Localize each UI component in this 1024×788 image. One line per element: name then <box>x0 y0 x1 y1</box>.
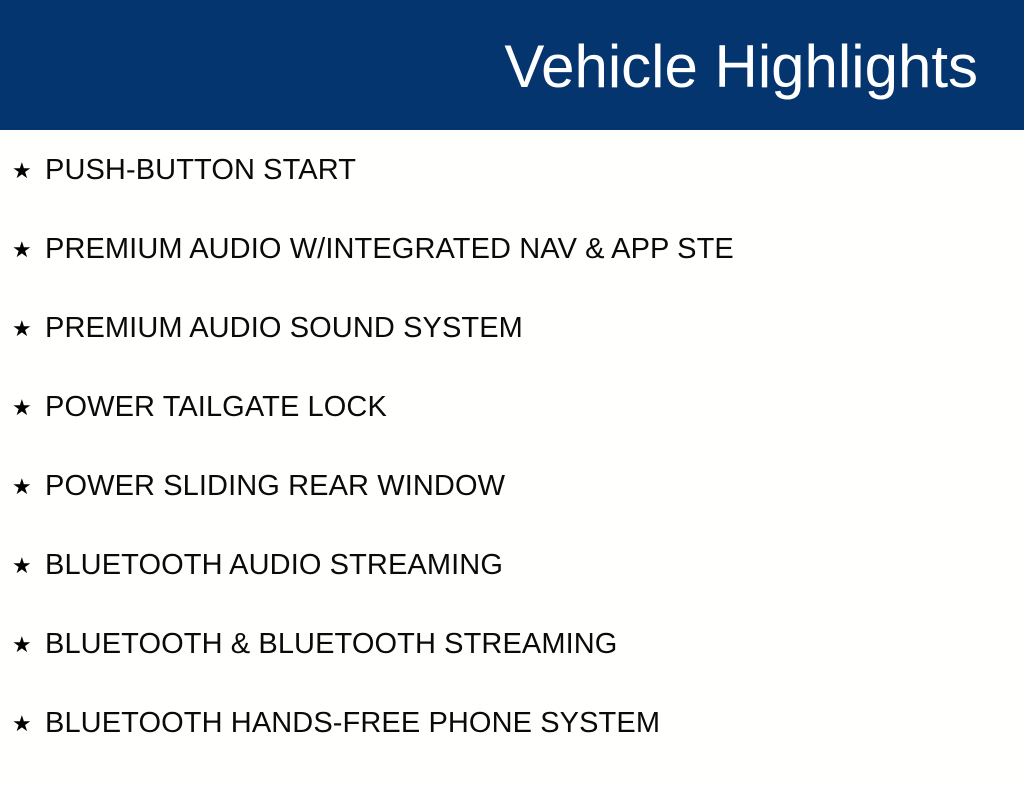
list-item: ★ PUSH-BUTTON START <box>0 130 1024 235</box>
list-item-label: BLUETOOTH HANDS-FREE PHONE SYSTEM <box>45 709 660 738</box>
vehicle-highlights-slide: Vehicle Highlights ★ PUSH-BUTTON START ★… <box>0 0 1024 768</box>
list-item-label: POWER SLIDING REAR WINDOW <box>45 472 505 501</box>
list-item-label: BLUETOOTH AUDIO STREAMING <box>45 551 503 580</box>
star-icon: ★ <box>12 398 45 420</box>
list-item-label: PUSH-BUTTON START <box>45 156 356 185</box>
star-icon: ★ <box>12 477 45 499</box>
star-icon: ★ <box>12 240 45 262</box>
list-item: ★ BLUETOOTH AUDIO STREAMING <box>0 551 1024 630</box>
list-item: ★ PREMIUM AUDIO W/INTEGRATED NAV & APP S… <box>0 235 1024 314</box>
star-icon: ★ <box>12 635 45 657</box>
star-icon: ★ <box>12 161 45 183</box>
list-item: ★ PREMIUM AUDIO SOUND SYSTEM <box>0 314 1024 393</box>
star-icon: ★ <box>12 319 45 341</box>
vehicle-highlights-list: ★ PUSH-BUTTON START ★ PREMIUM AUDIO W/IN… <box>0 130 1024 788</box>
list-item: ★ POWER SLIDING REAR WINDOW <box>0 472 1024 551</box>
star-icon: ★ <box>12 556 45 578</box>
list-item-label: PREMIUM AUDIO SOUND SYSTEM <box>45 314 523 343</box>
list-item: ★ BLUETOOTH & BLUETOOTH STREAMING <box>0 630 1024 709</box>
list-item: ★ BLUETOOTH HANDS-FREE PHONE SYSTEM <box>0 709 1024 788</box>
page-title: Vehicle Highlights <box>504 37 978 97</box>
header-banner: Vehicle Highlights <box>0 0 1024 130</box>
list-item-label: PREMIUM AUDIO W/INTEGRATED NAV & APP STE <box>45 235 734 264</box>
star-icon: ★ <box>12 714 45 736</box>
list-item-label: BLUETOOTH & BLUETOOTH STREAMING <box>45 630 617 659</box>
list-item: ★ POWER TAILGATE LOCK <box>0 393 1024 472</box>
list-item-label: POWER TAILGATE LOCK <box>45 393 387 422</box>
